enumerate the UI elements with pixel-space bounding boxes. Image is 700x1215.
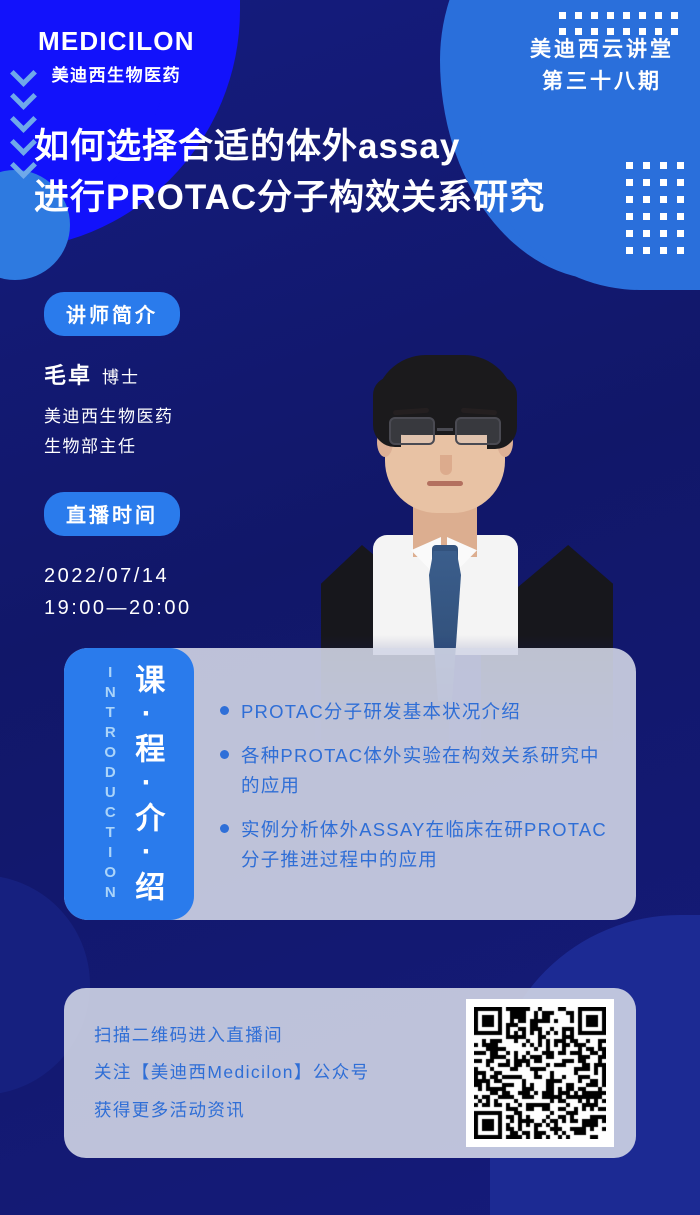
title-line-2: 进行PROTAC分子构效关系研究 [34, 173, 545, 224]
list-item: 各种PROTAC体外实验在构效关系研究中的应用 [220, 741, 616, 801]
qr-line-1: 扫描二维码进入直播间 [94, 1017, 466, 1055]
series-line-2: 第三十八期 [530, 66, 674, 98]
bullet-text: 实例分析体外ASSAY在临床在研PROTAC分子推进过程中的应用 [241, 815, 616, 875]
page-title: 如何选择合适的体外assay 进行PROTAC分子构效关系研究 [34, 122, 545, 224]
list-item: 实例分析体外ASSAY在临床在研PROTAC分子推进过程中的应用 [220, 815, 616, 875]
course-intro-bullets: PROTAC分子研发基本状况介绍 各种PROTAC体外实验在构效关系研究中的应用… [194, 648, 636, 920]
speaker-degree: 博士 [102, 368, 140, 387]
speaker-badge: 讲师简介 [44, 292, 180, 336]
bullet-text: 各种PROTAC体外实验在构效关系研究中的应用 [241, 741, 616, 801]
glasses-bridge [437, 428, 453, 431]
course-intro-label-cn: 课·程·介·绍 [131, 664, 163, 904]
qr-line-2: 关注【美迪西Medicilon】公众号 [94, 1054, 466, 1092]
brand-logo: MEDICILON 美迪西生物医药 [38, 28, 195, 86]
brand-logo-en: MEDICILON [38, 28, 195, 54]
list-item: PROTAC分子研发基本状况介绍 [220, 697, 616, 727]
qr-instructions: 扫描二维码进入直播间 关注【美迪西Medicilon】公众号 获得更多活动资讯 [64, 1017, 466, 1130]
speaker-name-row: 毛卓博士 [44, 358, 180, 390]
dot-grid-mid-icon [626, 162, 684, 254]
series-line-1: 美迪西云讲堂 [530, 34, 674, 66]
qr-panel: 扫描二维码进入直播间 关注【美迪西Medicilon】公众号 获得更多活动资讯 [64, 988, 636, 1158]
title-line-1: 如何选择合适的体外assay [34, 122, 545, 173]
speaker-company: 美迪西生物医药 [44, 402, 180, 432]
qr-code-image[interactable] [466, 999, 614, 1147]
glasses-lens-right [455, 417, 501, 445]
course-intro-panel: INTRODUCTION 课·程·介·绍 PROTAC分子研发基本状况介绍 各种… [64, 648, 636, 920]
portrait-nose [440, 455, 452, 475]
bullet-text: PROTAC分子研发基本状况介绍 [241, 697, 521, 727]
live-time-section: 直播时间 2022/07/14 19:00—20:00 [44, 492, 192, 624]
qr-line-3: 获得更多活动资讯 [94, 1092, 466, 1130]
portrait-mouth [427, 481, 463, 486]
chevron-down-icon [8, 85, 42, 105]
live-hours: 19:00—20:00 [44, 592, 192, 624]
qr-code-canvas [474, 1007, 606, 1139]
speaker-details: 毛卓博士 美迪西生物医药 生物部主任 [44, 358, 180, 462]
series-label: 美迪西云讲堂 第三十八期 [530, 34, 674, 97]
live-time-details: 2022/07/14 19:00—20:00 [44, 560, 192, 624]
bullet-dot-icon [220, 824, 229, 833]
brand-logo-cn: 美迪西生物医药 [38, 61, 195, 86]
course-intro-label: INTRODUCTION 课·程·介·绍 [64, 648, 194, 920]
speaker-name: 毛卓 [44, 363, 92, 388]
speaker-role: 生物部主任 [44, 432, 180, 462]
live-time-badge: 直播时间 [44, 492, 180, 536]
chevron-down-icon [8, 62, 42, 82]
course-intro-label-en: INTRODUCTION [102, 664, 119, 904]
speaker-section: 讲师简介 毛卓博士 美迪西生物医药 生物部主任 [44, 292, 180, 462]
bullet-dot-icon [220, 706, 229, 715]
live-date: 2022/07/14 [44, 560, 192, 592]
glasses-icon [387, 417, 503, 447]
glasses-lens-left [389, 417, 435, 445]
bullet-dot-icon [220, 750, 229, 759]
poster-root: MEDICILON 美迪西生物医药 美迪西云讲堂 第三十八期 如何选择合适的体外… [0, 0, 700, 1215]
dot-grid-top-icon [559, 12, 678, 35]
